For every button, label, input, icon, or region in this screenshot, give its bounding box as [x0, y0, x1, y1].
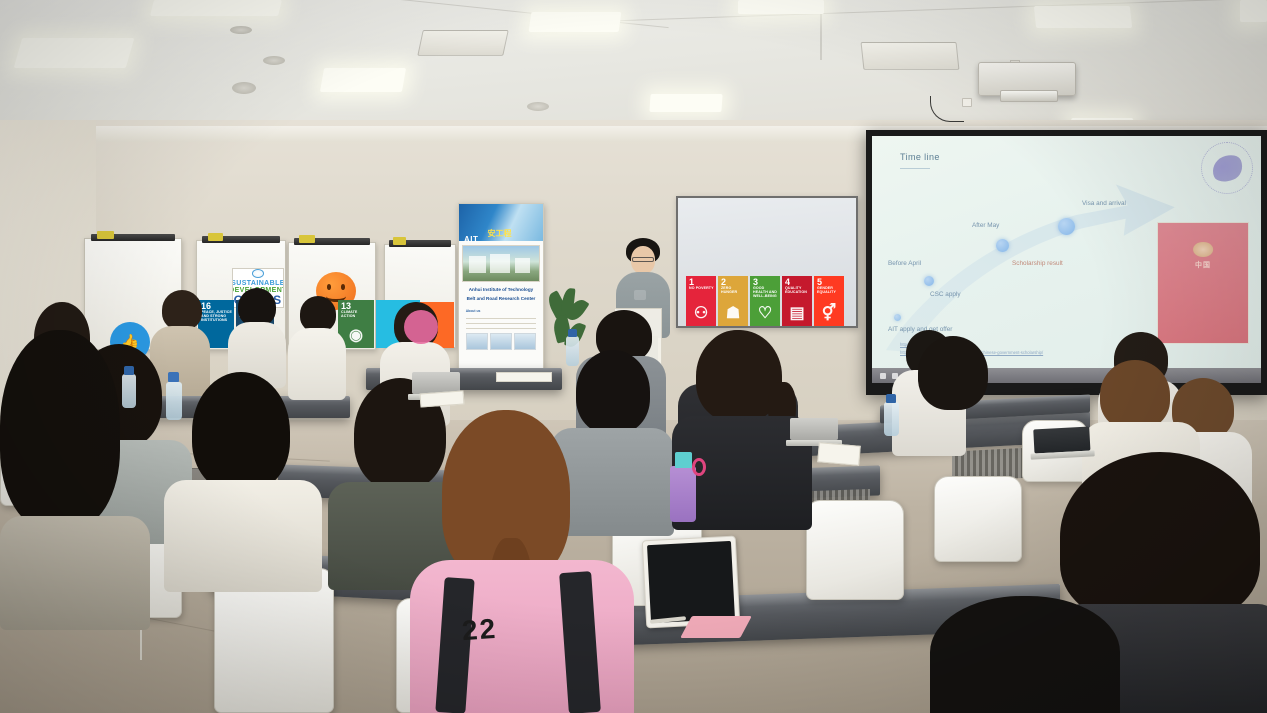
sdg-tile-2: 2 ZERO HUNGER ☗ [718, 276, 748, 326]
slide-title-underline [900, 168, 930, 169]
ceiling-light [649, 94, 722, 112]
tablet-device[interactable] [642, 536, 740, 629]
passport-image: 中国 [1157, 222, 1249, 344]
ceiling-light [14, 38, 135, 68]
slide-title: Time line [900, 152, 940, 162]
banner-image-row [466, 333, 537, 350]
sdg-title: GOOD HEALTH AND WELL-BEING [753, 287, 778, 298]
timeline-label-5: Scholarship result [1012, 260, 1063, 267]
banner-logo-cn: 安工程 [488, 228, 512, 239]
roll-up-banner: AIT 安工程 Anhui Institute of Technology Be… [458, 203, 544, 375]
sdg-title: NO POVERTY [689, 287, 714, 291]
banner-logo: AIT [464, 235, 478, 244]
ceiling-light [320, 68, 406, 92]
sdg-tile-3: 3 GOOD HEALTH AND WELL-BEING ♡ [750, 276, 780, 326]
timeline-node-4 [1058, 218, 1075, 235]
audience-member [164, 372, 324, 592]
ceiling-light [150, 0, 282, 16]
sdg-tile-5: 5 GENDER EQUALITY ⚥ [814, 276, 844, 326]
bottle-handle [692, 458, 706, 476]
projector-lens [1000, 90, 1058, 102]
timeline-label-6: Visa and arrival [1082, 200, 1126, 207]
gender-icon: ⚥ [822, 306, 836, 323]
audience-member-foreground [930, 596, 1130, 713]
smoke-detector [263, 56, 285, 65]
water-bottle[interactable] [670, 466, 696, 522]
water-bottle[interactable] [566, 336, 579, 366]
timeline-label-3: CSC apply [930, 291, 961, 298]
pink-sign-icon [404, 310, 438, 344]
banner-title-1: Anhui Institute of Technology [463, 287, 539, 294]
timeline-label-2: Before April [888, 260, 921, 267]
smoke-detector [230, 26, 252, 34]
ac-vent [417, 30, 509, 56]
sdg-tile-4: 4 QUALITY EDUCATION ▤ [782, 276, 812, 326]
glasses-icon [632, 257, 654, 262]
banner-photo [462, 245, 539, 282]
hoodie-number: 22 [461, 613, 498, 647]
water-bottle[interactable] [166, 382, 182, 420]
passport-label: 中国 [1195, 260, 1211, 270]
heartbeat-icon: ♡ [758, 306, 772, 323]
sdg-title: QUALITY EDUCATION [785, 287, 810, 295]
bowl-icon: ☗ [726, 306, 740, 323]
book-icon: ▤ [789, 306, 804, 323]
family-icon: ⚇ [694, 306, 708, 323]
smoke-detector [232, 82, 256, 94]
ceiling-light [1240, 0, 1267, 22]
un-emblem-icon [252, 269, 264, 278]
timeline-label-4: After May [972, 222, 999, 229]
timeline-node-2 [924, 276, 934, 286]
ac-vent [861, 42, 960, 70]
smoke-detector [527, 102, 549, 111]
ceiling-light [738, 0, 824, 14]
ceiling-light [1034, 6, 1132, 28]
paper-sheet[interactable] [817, 442, 861, 466]
timeline-node-1 [894, 314, 901, 321]
sdg-tile-1: 1 NO POVERTY ⚇ [686, 276, 716, 326]
classroom-scene: Time line AIT apply and get offer Before [0, 0, 1267, 713]
tablet-stand [680, 616, 752, 638]
water-bottle[interactable] [122, 374, 136, 408]
water-bottle[interactable] [884, 402, 899, 436]
timeline-node-3 [996, 239, 1009, 252]
sdg-title: GENDER EQUALITY [817, 287, 842, 295]
sdg-title: ZERO HUNGER [721, 287, 746, 295]
banner-section-label: About us [466, 309, 481, 313]
audience-member-pink-hoodie: 22 [404, 410, 634, 713]
sdg-line-1: SUSTAINABLE [232, 280, 284, 287]
ceiling-light [529, 12, 622, 32]
paper-sheet[interactable] [496, 372, 552, 382]
laptop[interactable] [1029, 426, 1094, 459]
bottle-cap [675, 452, 692, 468]
laptop[interactable] [786, 418, 842, 446]
globe-icon: ◉ [349, 328, 363, 345]
banner-title-2: Belt and Road Research Center [463, 296, 539, 303]
audience-member [888, 336, 1020, 524]
